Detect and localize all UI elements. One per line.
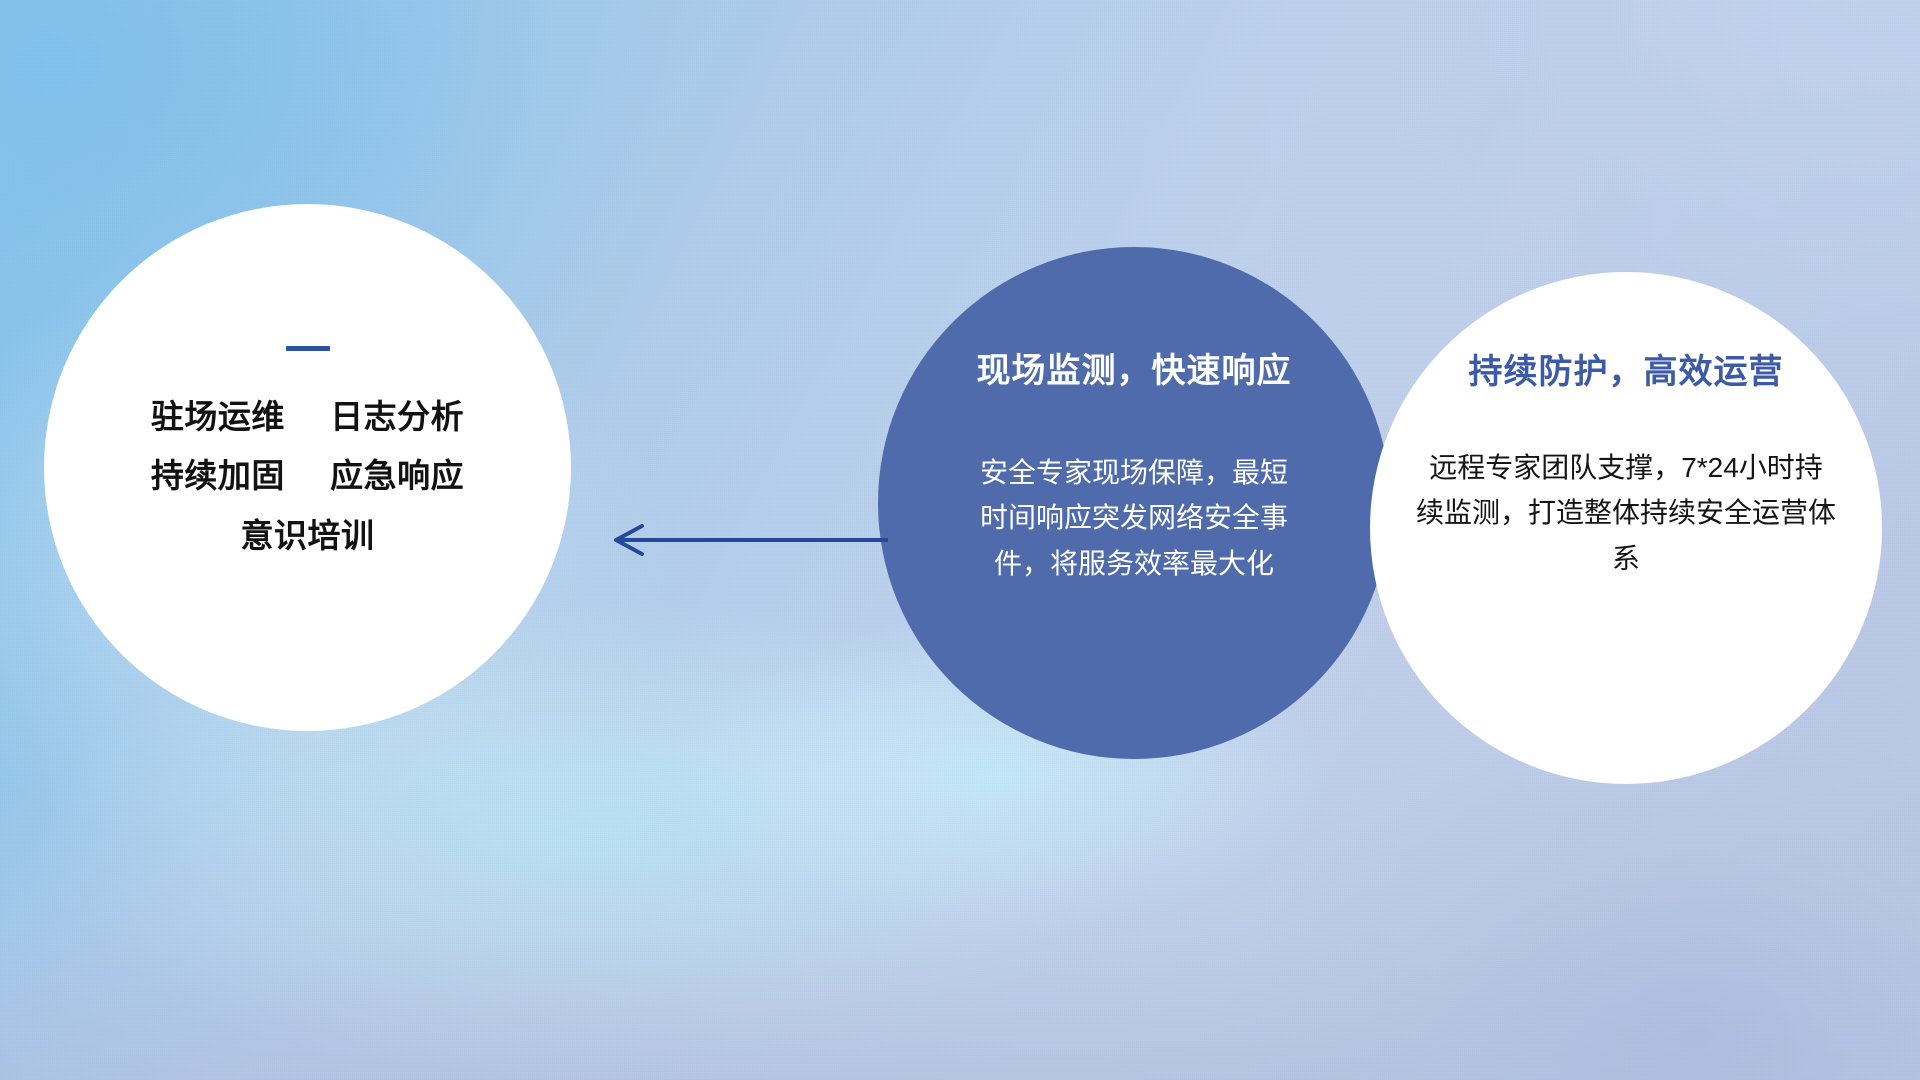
capability-row: 持续加固 应急响应 — [151, 446, 464, 505]
divider-dash-icon — [286, 346, 330, 351]
continuous-protection-content: 持续防护，高效运营 远程专家团队支撑，7*24小时持续监测，打造整体持续安全运营… — [1370, 272, 1882, 784]
capability-keyword: 持续加固 — [151, 457, 285, 494]
onsite-monitoring-content: 现场监测，快速响应 安全专家现场保障，最短时间响应突发网络安全事件，将服务效率最… — [878, 247, 1390, 759]
flow-arrow-left-icon — [598, 520, 888, 560]
capability-keyword: 意识培训 — [241, 517, 375, 554]
onsite-monitoring-title: 现场监测，快速响应 — [977, 343, 1292, 392]
continuous-protection-circle: 持续防护，高效运营 远程专家团队支撑，7*24小时持续监测，打造整体持续安全运营… — [1370, 272, 1882, 784]
onsite-monitoring-circle: 现场监测，快速响应 安全专家现场保障，最短时间响应突发网络安全事件，将服务效率最… — [878, 247, 1390, 759]
capabilities-circle: 驻场运维 日志分析 持续加固 应急响应 意识培训 — [44, 204, 571, 731]
onsite-monitoring-body: 安全专家现场保障，最短时间响应突发网络安全事件，将服务效率最大化 — [969, 450, 1299, 586]
continuous-protection-body: 远程专家团队支撑，7*24小时持续监测，打造整体持续安全运营体系 — [1416, 445, 1836, 581]
continuous-protection-title: 持续防护，高效运营 — [1469, 344, 1784, 393]
capability-keyword-list: 驻场运维 日志分析 持续加固 应急响应 意识培训 — [151, 387, 464, 565]
capability-keyword: 应急响应 — [330, 457, 464, 494]
capability-keyword: 日志分析 — [330, 398, 464, 435]
capability-row: 意识培训 — [151, 506, 464, 565]
slide-canvas: 驻场运维 日志分析 持续加固 应急响应 意识培训 现场监测，快速响应 安全专家现… — [0, 0, 1920, 1080]
capability-keyword: 驻场运维 — [151, 398, 285, 435]
capability-row: 驻场运维 日志分析 — [151, 387, 464, 446]
